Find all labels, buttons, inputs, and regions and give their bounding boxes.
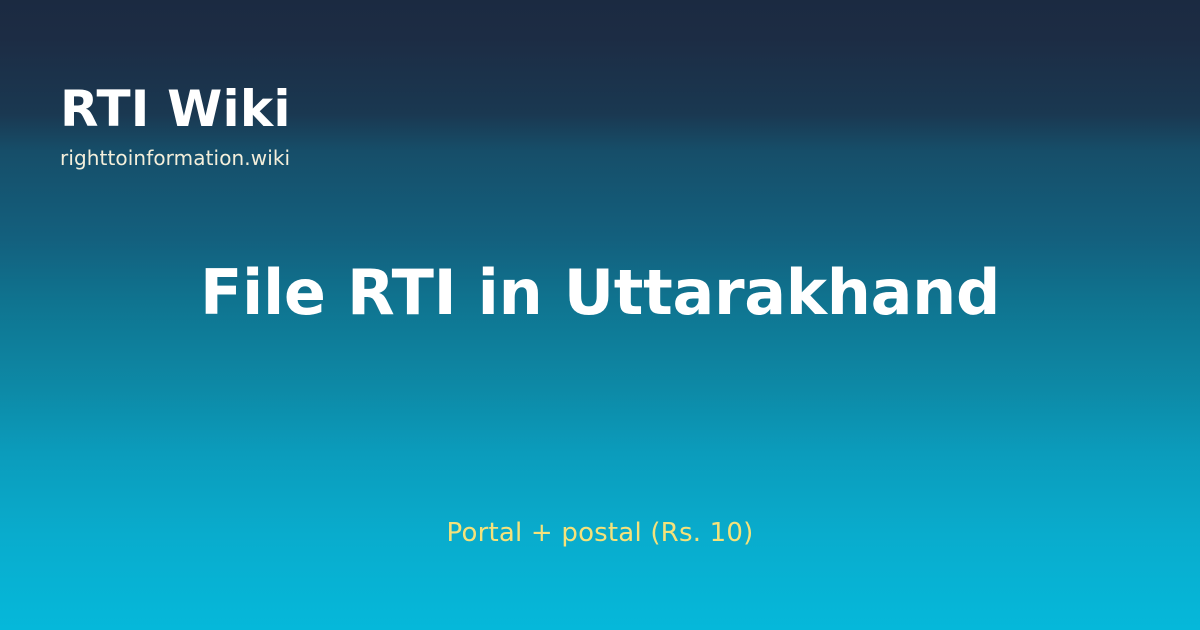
caption-block: Portal + postal (Rs. 10): [0, 518, 1200, 549]
page-title: File RTI in Uttarakhand: [60, 258, 1140, 327]
og-share-card: RTI Wiki righttoinformation.wiki File RT…: [0, 0, 1200, 630]
subtitle-caption: Portal + postal (Rs. 10): [60, 518, 1140, 549]
headline-block: File RTI in Uttarakhand: [0, 258, 1200, 327]
brand-name: RTI Wiki: [60, 84, 760, 134]
brand-domain: righttoinformation.wiki: [60, 148, 760, 168]
brand-block: RTI Wiki righttoinformation.wiki: [60, 84, 760, 168]
